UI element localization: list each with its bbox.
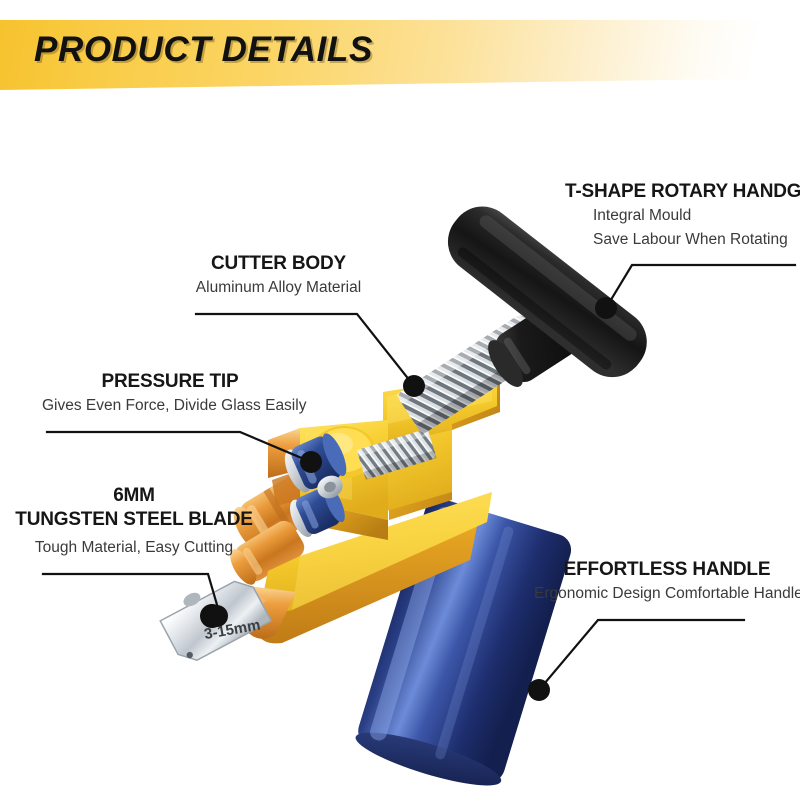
- callout-effortless-handle: EFFORTLESS HANDLE Ergonomic Design Comfo…: [534, 558, 800, 606]
- product-details-page: PRODUCT DETAILS: [0, 0, 800, 800]
- callout-t-shape-rotary-handgrip: T-SHAPE ROTARY HANDGRIP Integral Mould S…: [565, 180, 800, 252]
- callout-sub-blade: Tough Material, Easy Cutting: [14, 536, 254, 560]
- callout-pressure-tip: PRESSURE TIP Gives Even Force, Divide Gl…: [42, 370, 298, 418]
- callout-title-blade-1: 6MM: [14, 484, 254, 508]
- tungsten-steel-blade: 3-15mm: [156, 566, 275, 673]
- callout-sub-cutter-body: Aluminum Alloy Material: [186, 276, 371, 300]
- callout-tungsten-steel-blade: 6MM TUNGSTEN STEEL BLADE Tough Material,…: [14, 484, 254, 560]
- callout-title-blade-2: TUNGSTEN STEEL BLADE: [14, 508, 254, 532]
- callout-title-pressure-tip: PRESSURE TIP: [42, 370, 298, 394]
- callout-sub-handle: Ergonomic Design Comfortable Handle: [534, 582, 800, 606]
- callout-sub-handgrip-1: Integral Mould: [565, 204, 800, 228]
- callout-sub-pressure-tip: Gives Even Force, Divide Glass Easily: [42, 394, 298, 418]
- callout-sub-handgrip-2: Save Labour When Rotating: [565, 228, 800, 252]
- callout-title-handgrip: T-SHAPE ROTARY HANDGRIP: [565, 180, 800, 204]
- callout-title-cutter-body: CUTTER BODY: [186, 252, 371, 276]
- callout-title-handle: EFFORTLESS HANDLE: [534, 558, 800, 582]
- callout-cutter-body: CUTTER BODY Aluminum Alloy Material: [186, 252, 371, 300]
